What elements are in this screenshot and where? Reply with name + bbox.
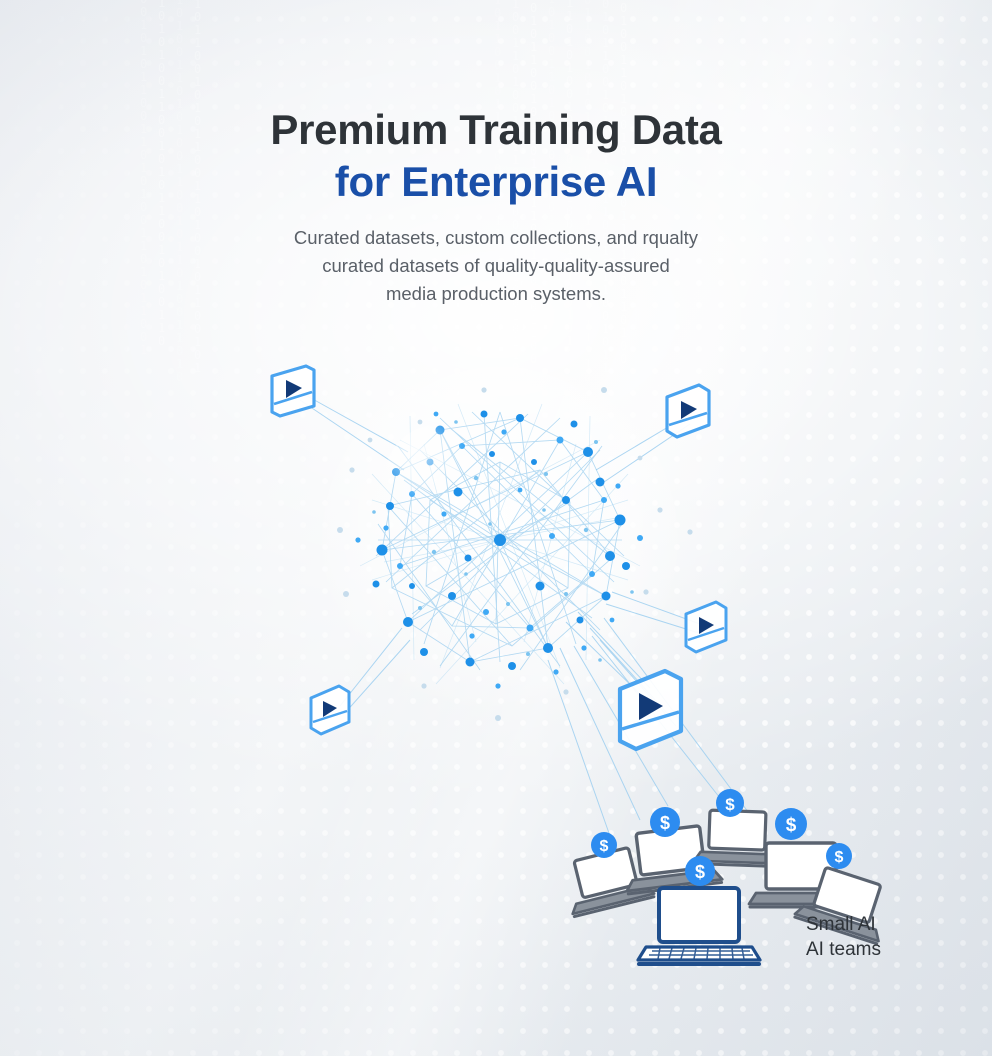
svg-text:$: $ — [600, 838, 609, 855]
subtitle-line-3: media production systems. — [246, 280, 746, 308]
audience-label-line-2: AI teams — [806, 937, 881, 962]
audience-label-line-1: Small AI — [806, 912, 881, 937]
svg-text:$: $ — [835, 849, 844, 866]
svg-text:$: $ — [786, 815, 797, 836]
hero-banner: 1 0 1 1 0 0 1 0 1 1 0 1 0 0 1 1 0 1 1 0 … — [0, 0, 992, 1056]
page-title-line-1: Premium Training Data — [0, 104, 992, 156]
subtitle-line-1: Curated datasets, custom collections, an… — [246, 224, 746, 252]
dollar-coin-4[interactable]: $ — [685, 856, 715, 886]
globe-hotspot — [384, 424, 496, 536]
dollar-coin-1[interactable]: $ — [591, 832, 617, 858]
headline-block: Premium Training Data for Enterprise AI … — [0, 104, 992, 308]
dollar-coin-3[interactable]: $ — [716, 789, 744, 817]
video-icon-top-left[interactable] — [272, 366, 314, 416]
video-icon-bottom-left[interactable] — [311, 686, 349, 734]
dollar-coin-6[interactable]: $ — [826, 843, 852, 869]
subtitle-line-2: curated datasets of quality-quality-assu… — [246, 252, 746, 280]
audience-label: Small AI AI teams — [806, 912, 881, 962]
svg-text:$: $ — [695, 862, 705, 882]
page-title-line-2: for Enterprise AI — [0, 156, 992, 208]
page-subtitle: Curated datasets, custom collections, an… — [246, 224, 746, 308]
video-icon-right[interactable] — [686, 602, 726, 652]
laptop-4[interactable] — [638, 888, 760, 964]
svg-text:$: $ — [660, 813, 670, 833]
svg-text:$: $ — [725, 795, 735, 814]
dollar-coin-2[interactable]: $ — [650, 807, 680, 837]
video-icon-top-right[interactable] — [667, 385, 709, 437]
dollar-coin-5[interactable]: $ — [775, 808, 807, 840]
